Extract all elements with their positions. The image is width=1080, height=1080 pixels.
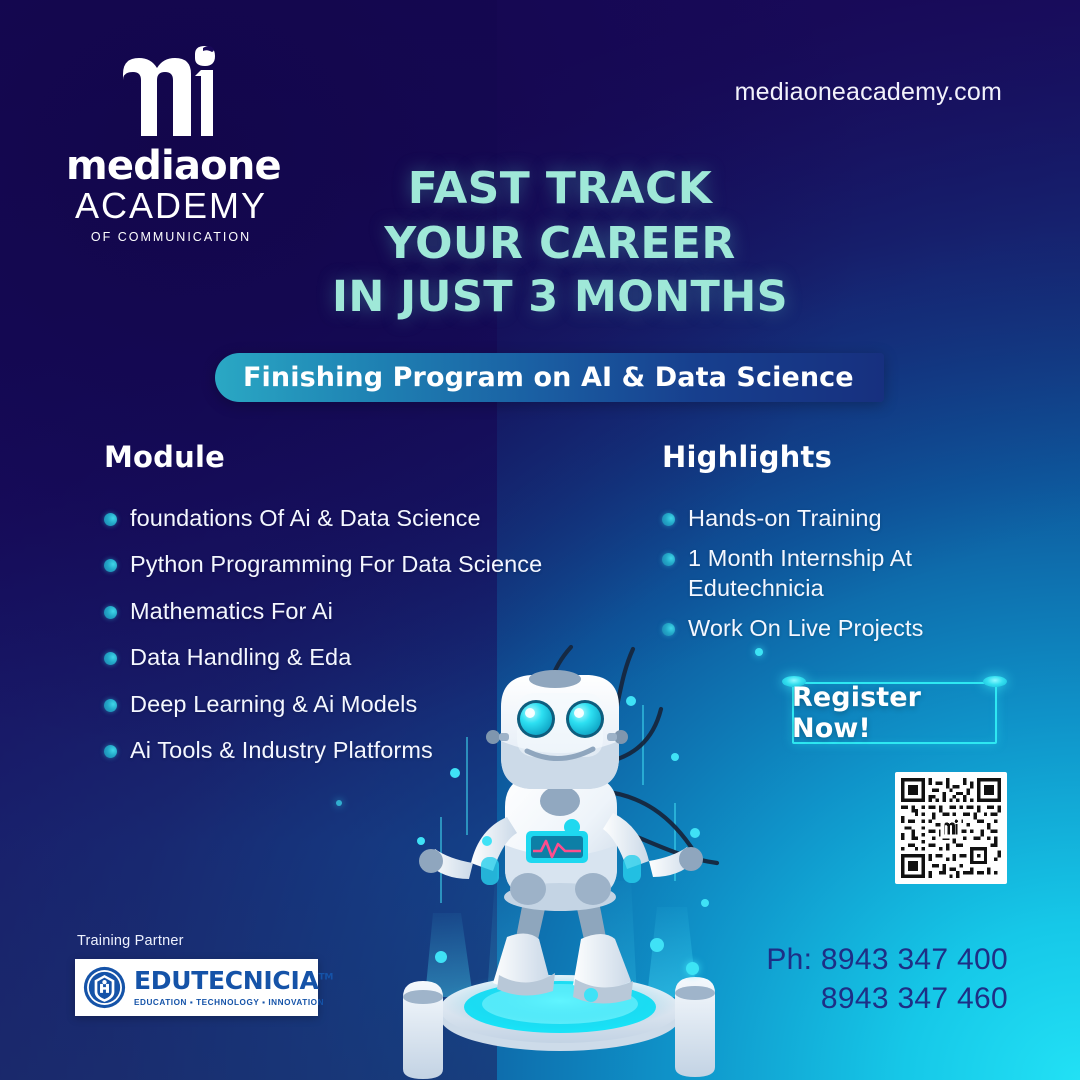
highlights-column: Highlights Hands-on Training 1 Month Int… [662, 440, 992, 655]
training-partner-label: Training Partner [77, 933, 184, 949]
edutecnicia-shield-icon [83, 966, 126, 1009]
highlight-item-label: 1 Month Internship At Edutechnicia [688, 544, 992, 603]
headline-line-3: IN JUST 3 MONTHS [300, 271, 820, 324]
trademark-symbol: TM [319, 973, 334, 983]
module-item-label: Deep Learning & Ai Models [130, 690, 417, 719]
list-item: Work On Live Projects [662, 614, 992, 643]
robot-torso-icon [504, 775, 617, 911]
partner-name-text: EDUTECNICIA [134, 966, 319, 995]
module-item-label: Mathematics For Ai [130, 597, 333, 626]
module-item-label: Data Handling & Eda [130, 643, 351, 672]
list-item: Python Programming For Data Science [104, 550, 624, 579]
bullet-dot-icon [104, 652, 117, 665]
partner-name: EDUTECNICIATM [134, 968, 333, 993]
website-url[interactable]: mediaoneacademy.com [735, 78, 1002, 107]
robot-scene-svg [395, 645, 725, 1080]
program-banner: Finishing Program on AI & Data Science [215, 353, 884, 402]
register-now-label: Register Now! [792, 682, 997, 744]
list-item: Mathematics For Ai [104, 597, 624, 626]
highlight-item-label: Work On Live Projects [688, 614, 923, 643]
bullet-dot-icon [104, 513, 117, 526]
training-partner-logo: EDUTECNICIATM EDUCATION ▪ TECHNOLOGY ▪ I… [75, 959, 318, 1016]
particle-dot-icon [336, 800, 342, 806]
brand-logo-sub: ACADEMY [66, 187, 276, 225]
qr-code-icon[interactable] [895, 772, 1007, 884]
tagline-separator-icon: ▪ [190, 998, 193, 1007]
register-now-button[interactable]: Register Now! [792, 682, 997, 744]
brand-logo-tagline: OF COMMUNICATION [66, 230, 276, 244]
particle-dot-icon [755, 648, 763, 656]
bullet-dot-icon [104, 745, 117, 758]
poster-root: mediaone ACADEMY OF COMMUNICATION mediao… [0, 0, 1080, 1080]
headline-line-2: YOUR CAREER [300, 217, 820, 272]
particle-dot-icon [686, 962, 699, 975]
phone-line-1: Ph: 8943 347 400 [766, 940, 1008, 979]
bullet-dot-icon [662, 623, 675, 636]
brand-logo: mediaone ACADEMY OF COMMUNICATION [66, 44, 276, 244]
bullet-dot-icon [662, 553, 675, 566]
headline-line-1: FAST TRACK [300, 162, 820, 217]
tagline-education: EDUCATION [134, 998, 187, 1007]
partner-tagline: EDUCATION ▪ TECHNOLOGY ▪ INNOVATION [134, 998, 333, 1007]
program-banner-text: Finishing Program on AI & Data Science [243, 362, 854, 393]
bullet-dot-icon [662, 513, 675, 526]
list-item: 1 Month Internship At Edutechnicia [662, 544, 992, 603]
phone-line-2: 8943 347 460 [766, 979, 1008, 1018]
headline: FAST TRACK YOUR CAREER IN JUST 3 MONTHS [300, 162, 820, 324]
m1-monogram-icon [117, 44, 225, 140]
robot-head-icon [486, 670, 628, 789]
bullet-dot-icon [104, 606, 117, 619]
brand-logo-word: mediaone [66, 146, 276, 186]
ai-robot-illustration [395, 645, 725, 1080]
highlights-list: Hands-on Training 1 Month Internship At … [662, 504, 992, 644]
list-item: foundations Of Ai & Data Science [104, 504, 624, 533]
tagline-separator-icon: ▪ [262, 998, 265, 1007]
highlight-item-label: Hands-on Training [688, 504, 882, 533]
tagline-innovation: INNOVATION [268, 998, 324, 1007]
training-partner-text: EDUTECNICIATM EDUCATION ▪ TECHNOLOGY ▪ I… [134, 968, 333, 1007]
module-item-label: foundations Of Ai & Data Science [130, 504, 481, 533]
module-title: Module [104, 440, 624, 474]
highlights-title: Highlights [662, 440, 992, 474]
qr-code-svg [901, 778, 1001, 878]
module-item-label: Ai Tools & Industry Platforms [130, 736, 433, 765]
module-item-label: Python Programming For Data Science [130, 550, 542, 579]
contact-phone[interactable]: Ph: 8943 347 400 8943 347 460 [766, 940, 1008, 1018]
bullet-dot-icon [104, 559, 117, 572]
bullet-dot-icon [104, 699, 117, 712]
list-item: Hands-on Training [662, 504, 992, 533]
tagline-technology: TECHNOLOGY [196, 998, 259, 1007]
